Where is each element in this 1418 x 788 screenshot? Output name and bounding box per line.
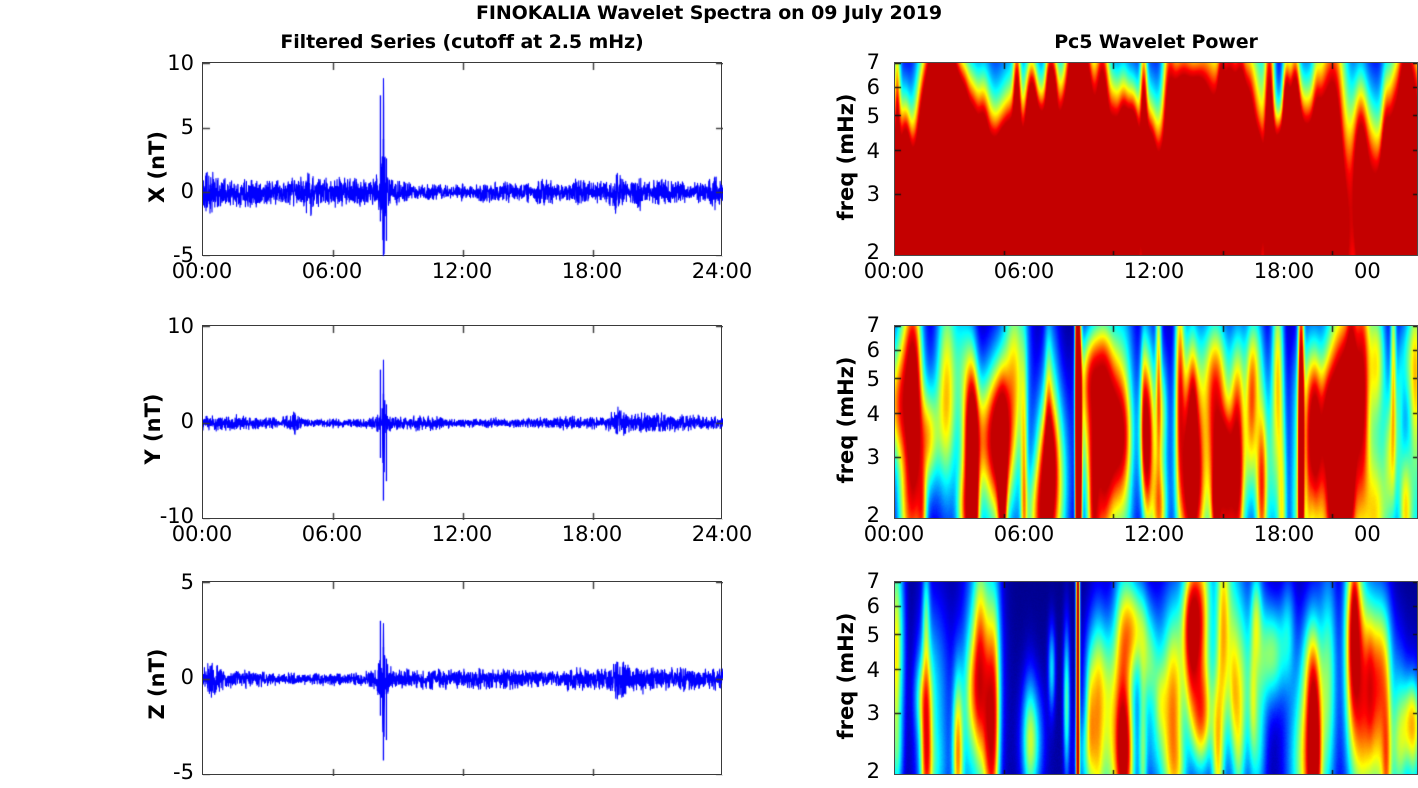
axes-filtered-series-x <box>202 62 722 256</box>
xtick-left-0-3: 18:00 <box>532 259 652 283</box>
ytick-right-0-1: 6 <box>840 75 880 99</box>
plot-filtered-series-y <box>203 326 723 520</box>
ytick-right-2-1: 6 <box>840 594 880 618</box>
ytick-left-1-0: 10 <box>140 314 194 338</box>
xtick-left-1-3: 18:00 <box>532 522 652 546</box>
xtick-right-1-4: 00 <box>1354 522 1418 546</box>
right-column-title: Pc5 Wavelet Power <box>894 31 1418 53</box>
plot-filtered-series-z <box>203 582 723 776</box>
xtick-right-1-1: 06:00 <box>964 522 1084 546</box>
xtick-right-1-0: 00:00 <box>834 522 954 546</box>
xtick-left-1-2: 12:00 <box>402 522 522 546</box>
figure-suptitle: FINOKALIA Wavelet Spectra on 09 July 201… <box>0 2 1418 24</box>
ytick-right-0-3: 4 <box>840 139 880 163</box>
ytick-right-1-0: 7 <box>840 313 880 337</box>
xtick-left-1-0: 00:00 <box>142 522 262 546</box>
xtick-left-0-4: 24:00 <box>662 259 782 283</box>
xtick-left-0-1: 06:00 <box>272 259 392 283</box>
ytick-right-2-0: 7 <box>840 569 880 593</box>
ytick-left-2-0: 5 <box>140 570 194 594</box>
plot-wavelet-power-x <box>895 63 1418 256</box>
ytick-right-2-4: 3 <box>840 701 880 725</box>
ytick-right-2-2: 5 <box>840 623 880 647</box>
xtick-right-0-2: 12:00 <box>1094 259 1214 283</box>
ytick-right-2-3: 4 <box>840 658 880 682</box>
plot-wavelet-power-z <box>895 582 1418 775</box>
xtick-left-1-1: 06:00 <box>272 522 392 546</box>
ytick-left-2-1: 0 <box>140 665 194 689</box>
xtick-left-1-4: 24:00 <box>662 522 782 546</box>
ytick-right-1-1: 6 <box>840 338 880 362</box>
ytick-right-1-4: 3 <box>840 445 880 469</box>
axes-filtered-series-z <box>202 581 722 775</box>
xtick-left-0-2: 12:00 <box>402 259 522 283</box>
ytick-right-1-3: 4 <box>840 402 880 426</box>
xtick-right-1-2: 12:00 <box>1094 522 1214 546</box>
left-column-title: Filtered Series (cutoff at 2.5 mHz) <box>202 31 722 53</box>
wavelet-figure: FINOKALIA Wavelet Spectra on 09 July 201… <box>0 0 1418 788</box>
xtick-right-0-1: 06:00 <box>964 259 1084 283</box>
ytick-left-0-0: 10 <box>140 51 194 75</box>
ytick-left-1-1: 0 <box>140 409 194 433</box>
xtick-right-1-3: 18:00 <box>1224 522 1344 546</box>
axes-wavelet-power-x <box>894 62 1418 256</box>
axes-filtered-series-y <box>202 325 722 519</box>
plot-wavelet-power-y <box>895 326 1418 519</box>
xtick-right-0-4: 00 <box>1354 259 1418 283</box>
ytick-right-2-5: 2 <box>840 759 880 783</box>
ytick-right-0-4: 3 <box>840 182 880 206</box>
xtick-right-0-0: 00:00 <box>834 259 954 283</box>
ytick-left-2-2: -5 <box>140 760 194 784</box>
ytick-left-0-1: 5 <box>140 115 194 139</box>
ytick-right-0-0: 7 <box>840 50 880 74</box>
ytick-left-0-2: 0 <box>140 179 194 203</box>
xtick-left-0-0: 00:00 <box>142 259 262 283</box>
plot-filtered-series-x <box>203 63 723 257</box>
ytick-right-0-2: 5 <box>840 104 880 128</box>
axes-wavelet-power-z <box>894 581 1418 775</box>
xtick-right-0-3: 18:00 <box>1224 259 1344 283</box>
ytick-right-1-2: 5 <box>840 367 880 391</box>
axes-wavelet-power-y <box>894 325 1418 519</box>
